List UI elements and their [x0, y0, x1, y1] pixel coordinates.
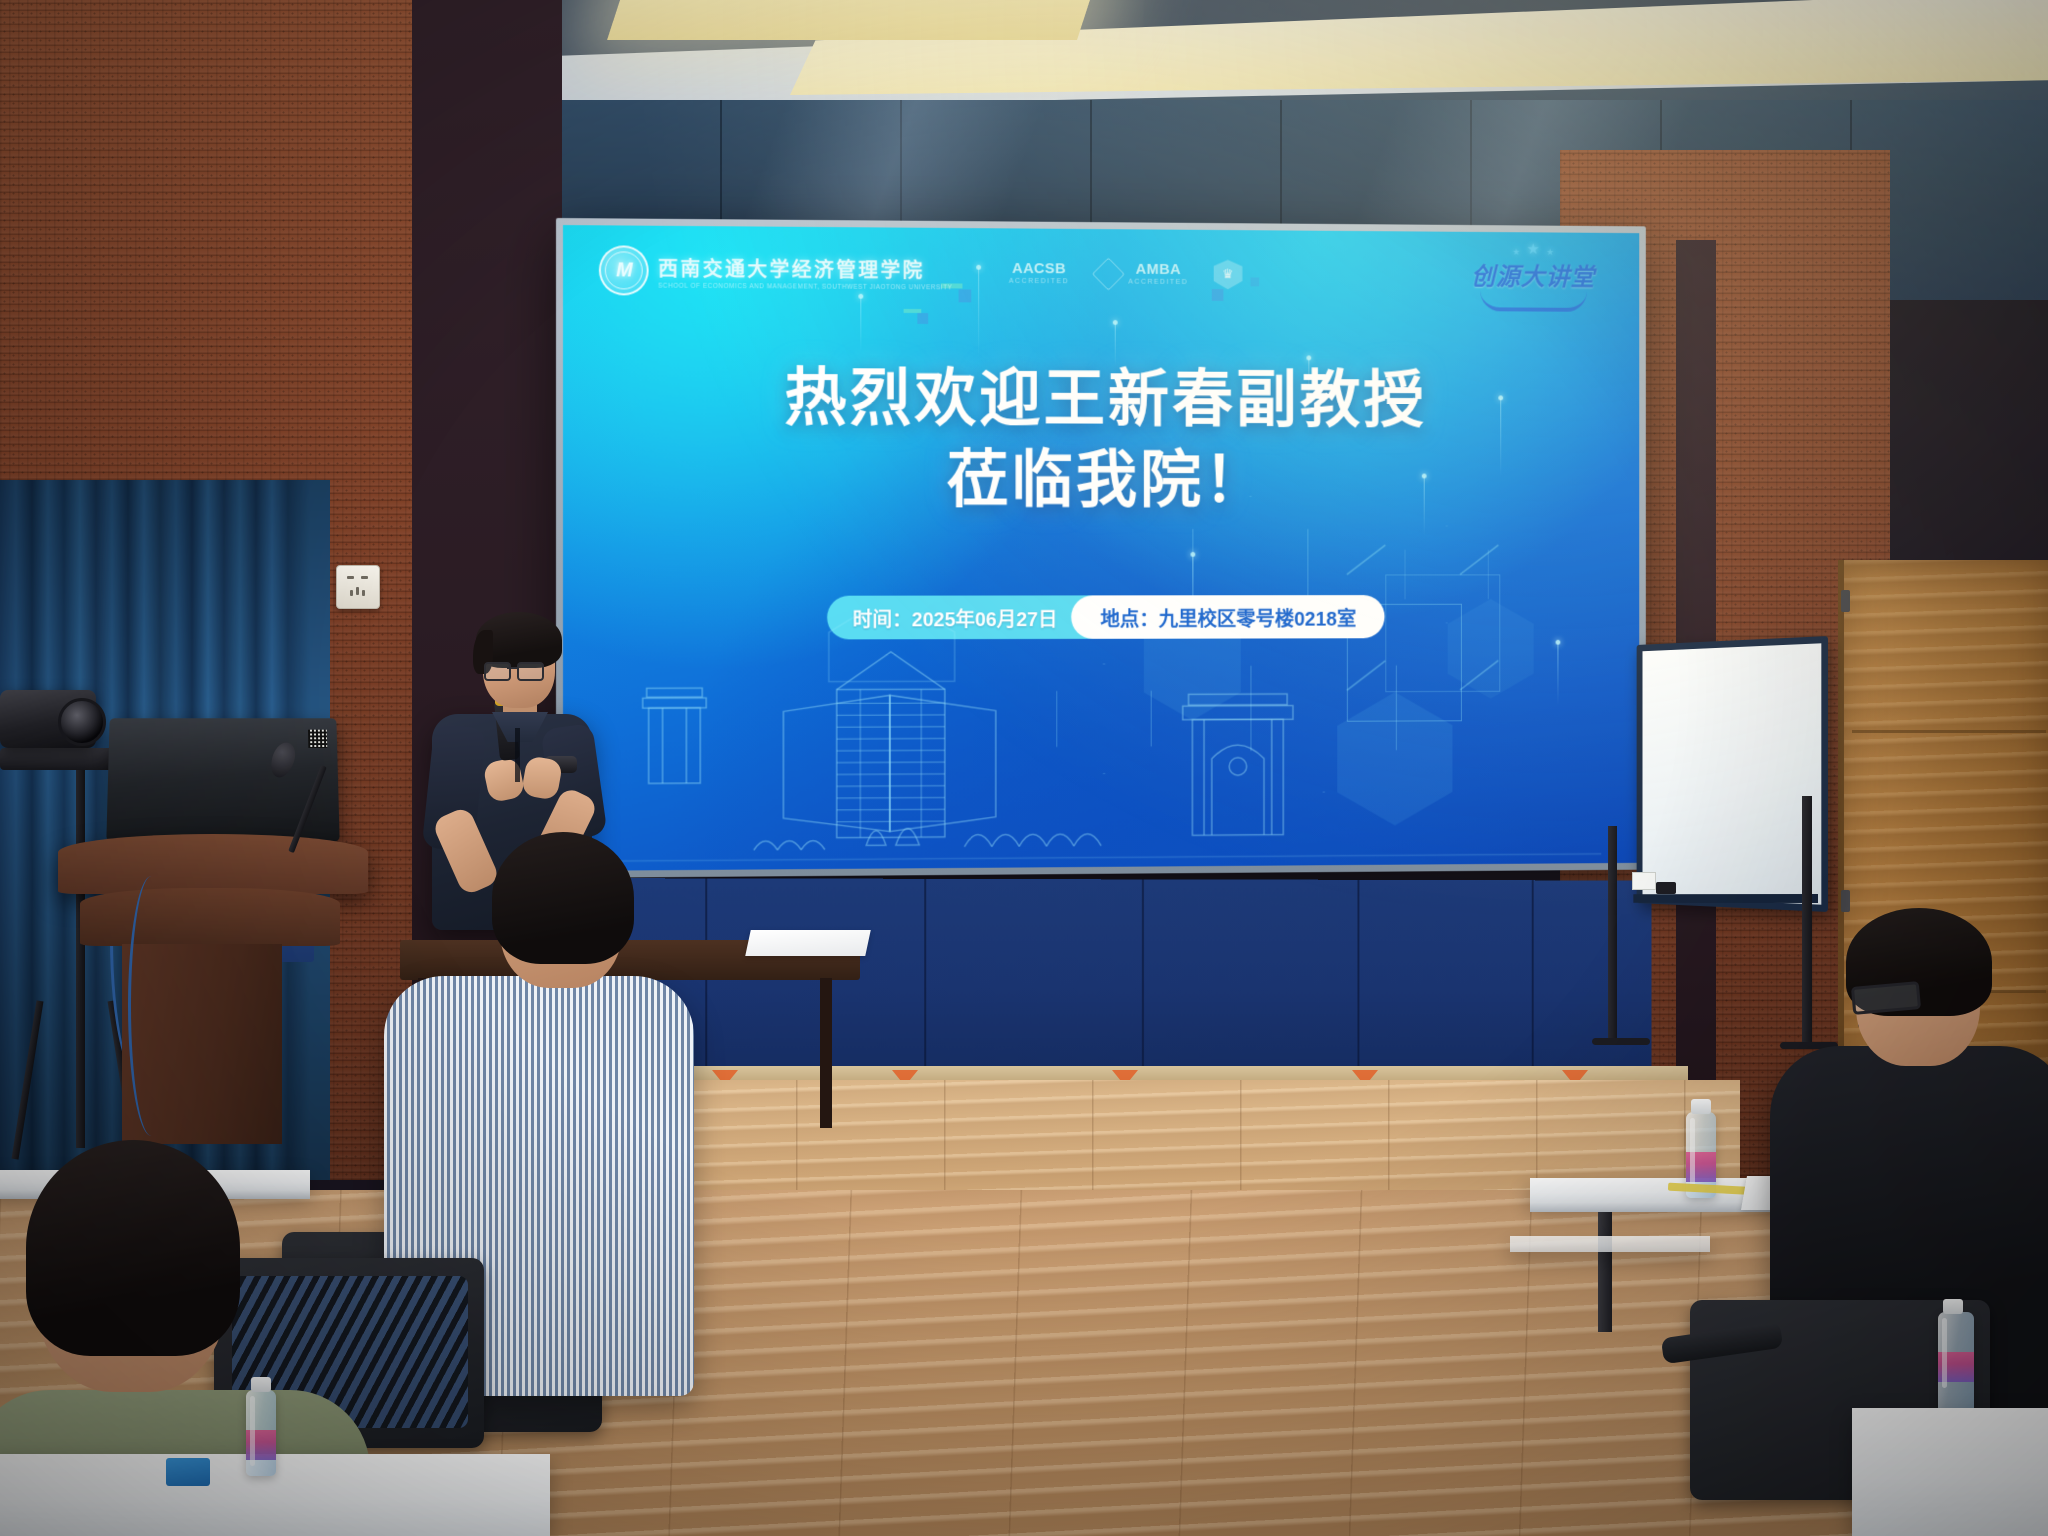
lecture-hall-photo: M 西南交通大学经济管理学院 SCHOOL OF ECONOMICS AND M…	[0, 0, 2048, 1536]
whiteboard-tray	[1633, 894, 1818, 903]
podium-cable	[128, 876, 175, 1136]
amba-diamond-icon	[1092, 257, 1125, 290]
third-accreditation-logo: ♛	[1213, 260, 1242, 290]
table-right-lower	[1852, 1408, 2048, 1536]
table-mid-right	[1510, 1236, 1710, 1252]
slide-background-decoration	[563, 225, 1639, 871]
accreditation-logos: AACSB ACCREDITED AMBA ACCREDITED ♛	[1009, 258, 1242, 289]
podium-top	[58, 834, 368, 894]
attendee-striped-hair	[492, 832, 634, 964]
slide-title-line1: 热烈欢迎王新春副教授	[563, 357, 1639, 442]
slide-info-pills: 时间：2025年06月27日 地点：九里校区零号楼0218室	[827, 596, 1385, 640]
whiteboard-eraser	[1632, 872, 1656, 890]
speaker-glasses-bridge-icon	[507, 667, 517, 669]
shield-icon: ♛	[1213, 260, 1242, 290]
lecture-brand-swoosh-icon	[1480, 290, 1587, 311]
water-bottle-front-left[interactable]	[246, 1390, 276, 1476]
aacsb-name: AACSB	[1012, 261, 1066, 276]
aacsb-logo: AACSB ACCREDITED	[1009, 261, 1069, 285]
lecture-brand-stars-icon: ★★★	[1512, 242, 1554, 257]
event-place-pill: 地点：九里校区零号楼0218室	[1071, 596, 1385, 640]
amba-logo: AMBA ACCREDITED	[1094, 259, 1188, 288]
whiteboard-leg-left	[1608, 826, 1617, 1042]
mobile-whiteboard	[1614, 636, 1874, 1066]
lecture-series-logo: ★★★ 创源大讲堂	[1471, 241, 1595, 311]
whiteboard-foot-left	[1592, 1038, 1650, 1045]
water-bottle-right-3[interactable]	[1938, 1312, 1974, 1416]
university-crest-icon: M	[599, 246, 649, 296]
table-right-leg	[1598, 1212, 1612, 1332]
lecture-brand-name: 创源大讲堂	[1471, 257, 1595, 293]
event-time-pill: 时间：2025年06月27日	[827, 596, 1098, 640]
podium-body	[80, 888, 340, 946]
slide-header: M 西南交通大学经济管理学院 SCHOOL OF ECONOMICS AND M…	[563, 225, 1639, 321]
whiteboard-surface	[1637, 636, 1828, 912]
crest-letter: M	[616, 261, 633, 281]
campus-line-art	[563, 611, 1639, 871]
camera-lens-icon	[58, 698, 106, 746]
asset-qr-sticker	[308, 730, 327, 748]
stage-table-papers	[745, 930, 871, 956]
slide-title-line2: 莅临我院！	[563, 439, 1639, 522]
power-outlet	[336, 565, 380, 609]
attendee-front-left-hair	[26, 1140, 240, 1356]
speaker-glasses-right-icon	[517, 662, 544, 681]
whiteboard-marker	[1656, 882, 1676, 894]
slide-title: 热烈欢迎王新春副教授 莅临我院！	[563, 357, 1639, 521]
speaker-shirt-placket	[515, 728, 520, 782]
university-logo: M 西南交通大学经济管理学院 SCHOOL OF ECONOMICS AND M…	[599, 246, 952, 298]
attendee-right-glasses-icon	[1851, 981, 1921, 1015]
led-display-frame: M 西南交通大学经济管理学院 SCHOOL OF ECONOMICS AND M…	[556, 218, 1646, 878]
speaker-glasses-left-icon	[484, 662, 511, 681]
university-name-en: SCHOOL OF ECONOMICS AND MANAGEMENT, SOUT…	[658, 282, 952, 291]
amba-name: AMBA	[1136, 262, 1181, 277]
aacsb-sub: ACCREDITED	[1009, 278, 1069, 285]
stage-table-leg-right	[820, 978, 832, 1128]
amba-sub: ACCREDITED	[1128, 279, 1188, 286]
tripod-column	[76, 768, 85, 1148]
whiteboard-leg-right	[1802, 796, 1812, 1046]
badge-card	[166, 1458, 210, 1486]
university-name-cn: 西南交通大学经济管理学院	[658, 252, 952, 283]
ceiling-light-left	[607, 0, 1103, 40]
led-display-screen: M 西南交通大学经济管理学院 SCHOOL OF ECONOMICS AND M…	[563, 225, 1639, 871]
